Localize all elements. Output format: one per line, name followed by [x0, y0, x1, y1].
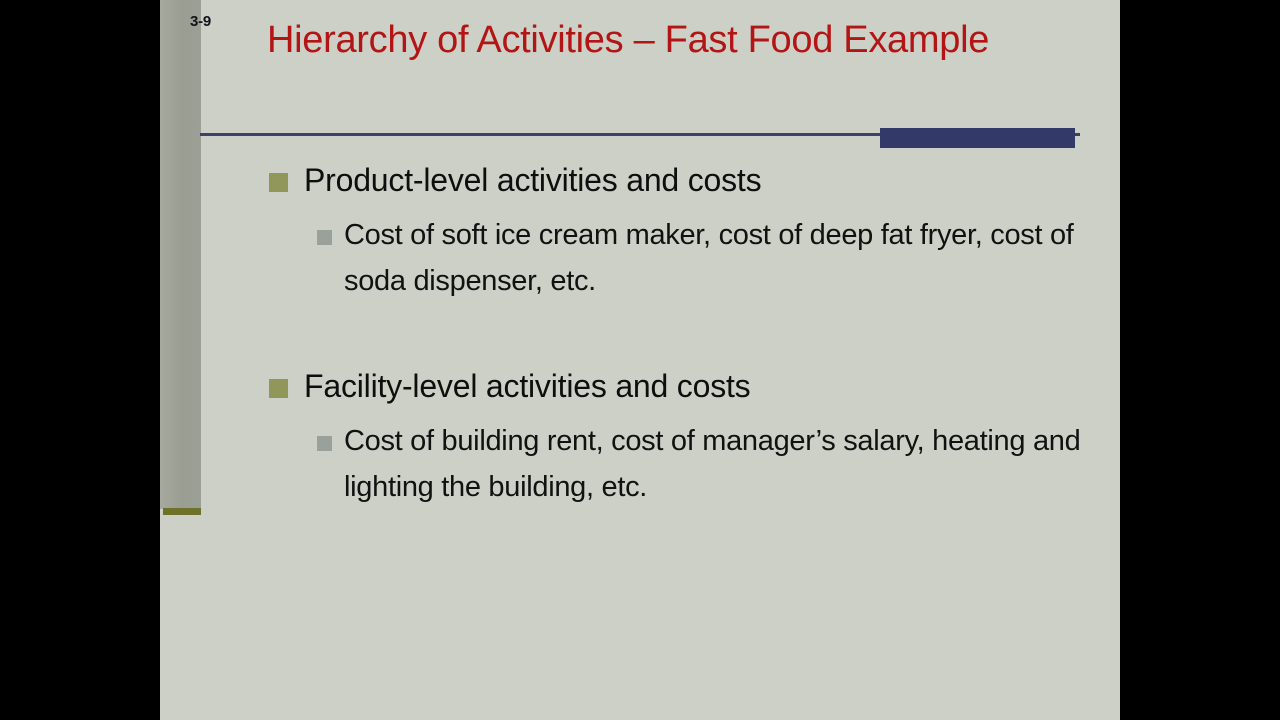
slide-body: Product-level activities and costs Cost … — [160, 158, 1120, 510]
bullet-level2-label: Cost of soft ice cream maker, cost of de… — [344, 219, 1074, 297]
square-bullet-icon — [269, 379, 288, 398]
bullet-level1-label: Product-level activities and costs — [304, 162, 761, 198]
slide-canvas: 3-9 Hierarchy of Activities – Fast Food … — [160, 0, 1120, 720]
section-spacer — [160, 304, 1120, 364]
presentation-viewer: 3-9 Hierarchy of Activities – Fast Food … — [0, 0, 1280, 720]
bullet-level2-label: Cost of building rent, cost of manager’s… — [344, 425, 1080, 503]
bullet-level2: Cost of soft ice cream maker, cost of de… — [160, 212, 1120, 304]
bullet-level1-label: Facility-level activities and costs — [304, 368, 751, 404]
bullet-level1: Facility-level activities and costs — [160, 364, 1120, 408]
bullet-level1: Product-level activities and costs — [160, 158, 1120, 202]
square-bullet-icon — [317, 230, 332, 245]
bullet-level2: Cost of building rent, cost of manager’s… — [160, 418, 1120, 510]
square-bullet-icon — [269, 173, 288, 192]
slide-number: 3-9 — [190, 13, 211, 30]
slide-title: Hierarchy of Activities – Fast Food Exam… — [267, 14, 1027, 67]
title-accent-block — [880, 128, 1075, 148]
square-bullet-icon — [317, 436, 332, 451]
